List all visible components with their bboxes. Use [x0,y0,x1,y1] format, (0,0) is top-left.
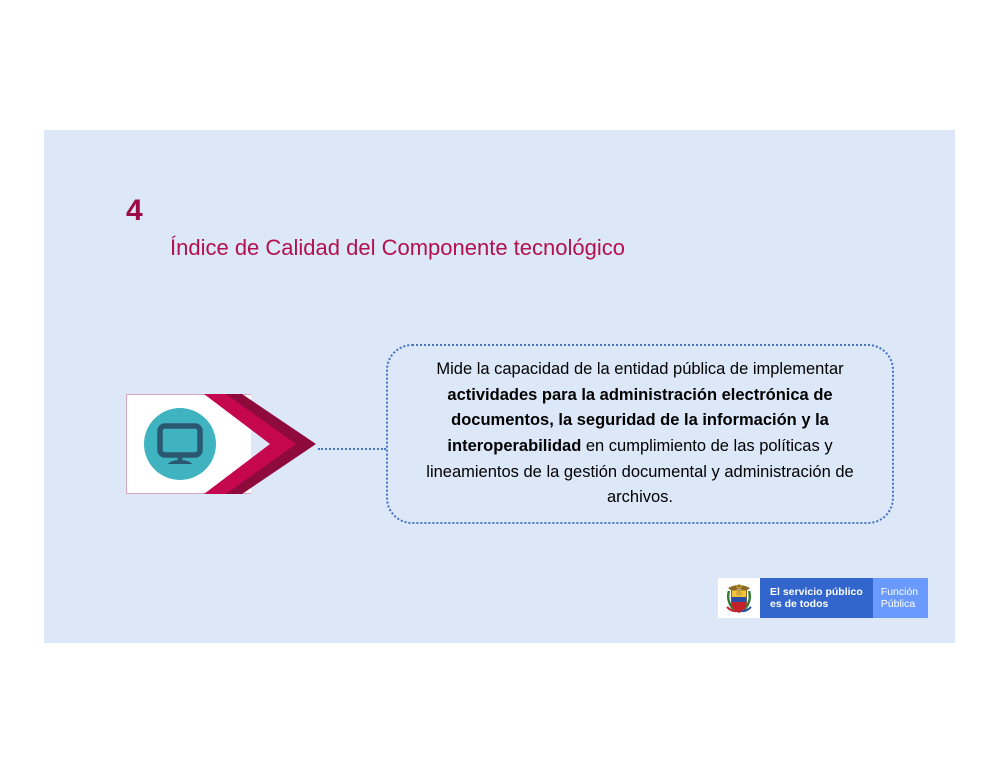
connector-line [318,448,386,450]
description-callout: Mide la capacidad de la entidad pública … [386,344,894,524]
monitor-icon [144,408,216,480]
logo-entity-name: Función Pública [873,578,928,618]
footer-logo: El servicio público es de todos Función … [718,578,928,618]
icon-group [126,394,316,494]
description-segment-0: Mide la capacidad de la entidad pública … [436,360,843,378]
logo-slogan: El servicio público es de todos [760,578,873,618]
logo-entity-line-1: Función [881,586,918,598]
logo-entity-line-2: Pública [881,598,918,610]
page-title: Índice de Calidad del Componente tecnoló… [170,236,625,260]
colombia-coat-of-arms-icon [718,578,760,618]
section-number: 4 [126,196,143,226]
logo-slogan-line-1: El servicio público [770,586,863,598]
chevron-arrow-icon [204,394,316,494]
description-text: Mide la capacidad de la entidad pública … [388,357,892,510]
logo-slogan-line-2: es de todos [770,598,863,610]
